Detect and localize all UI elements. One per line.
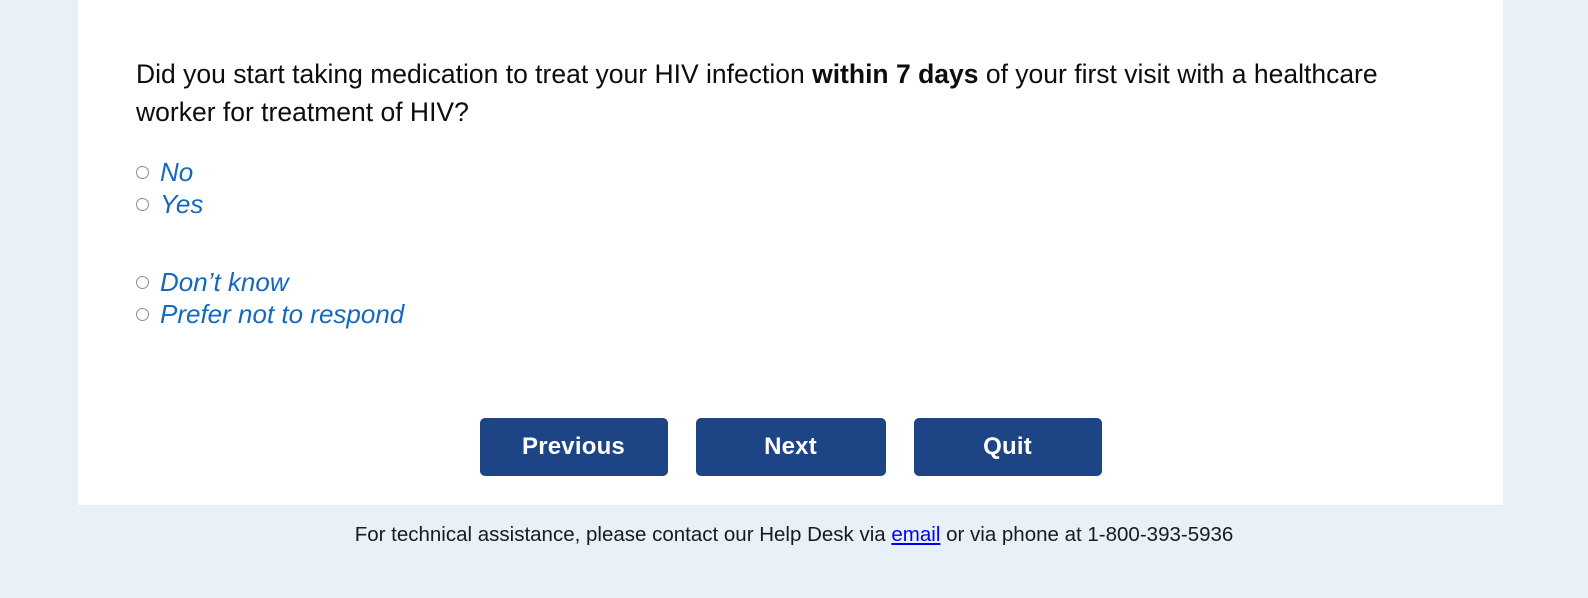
quit-button[interactable]: Quit xyxy=(914,418,1102,476)
footer-text-before-link: For technical assistance, please contact… xyxy=(355,523,892,546)
survey-page: Did you start taking medication to treat… xyxy=(0,0,1588,598)
option-label-no[interactable]: No xyxy=(160,157,193,187)
radio-button-icon-yes[interactable] xyxy=(136,198,149,211)
help-desk-email-link[interactable]: email xyxy=(891,523,940,546)
question-text-part1: Did you start taking medication to treat… xyxy=(136,59,812,89)
option-label-prefer-not-to-respond[interactable]: Prefer not to respond xyxy=(160,299,404,329)
footer-help-text: For technical assistance, please contact… xyxy=(0,519,1588,551)
radio-button-icon-dont-know[interactable] xyxy=(136,276,149,289)
next-button[interactable]: Next xyxy=(696,418,886,476)
question-prompt: Did you start taking medication to treat… xyxy=(136,55,1446,131)
option-label-yes[interactable]: Yes xyxy=(160,189,203,219)
option-row-yes[interactable]: Yes xyxy=(136,188,1036,220)
previous-button[interactable]: Previous xyxy=(480,418,668,476)
navigation-button-bar: Previous Next Quit xyxy=(78,418,1503,476)
option-row-prefer-not-to-respond[interactable]: Prefer not to respond xyxy=(136,298,1036,330)
answer-options-group: No Yes Don’t know Prefer not to respond xyxy=(136,156,1036,330)
footer-text-after-link: or via phone at 1-800-393-5936 xyxy=(940,523,1233,546)
radio-button-icon-no[interactable] xyxy=(136,166,149,179)
option-label-dont-know[interactable]: Don’t know xyxy=(160,267,289,297)
radio-button-icon-prefer-not-to-respond[interactable] xyxy=(136,308,149,321)
question-emphasis: within 7 days xyxy=(812,59,978,89)
option-row-no[interactable]: No xyxy=(136,156,1036,188)
option-row-dont-know[interactable]: Don’t know xyxy=(136,266,1036,298)
survey-card: Did you start taking medication to treat… xyxy=(78,0,1503,505)
